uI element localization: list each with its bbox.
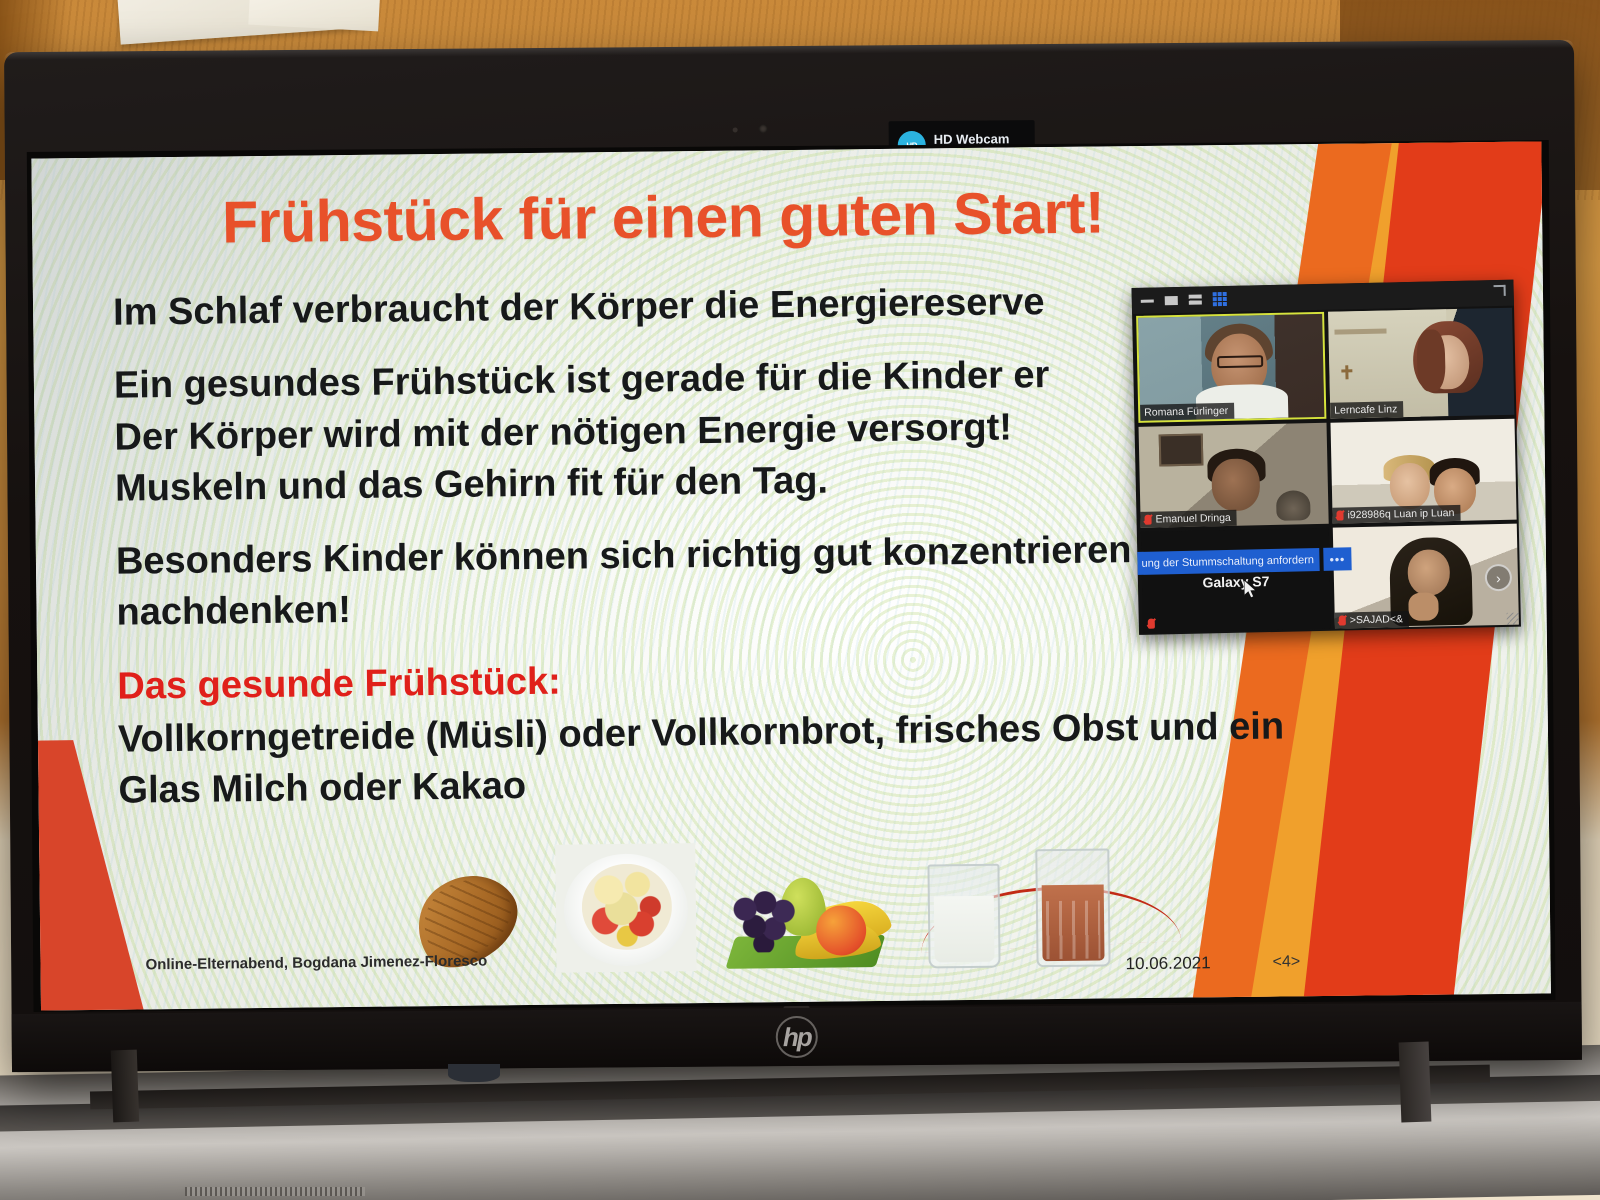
muted-microphone-icon — [1148, 619, 1155, 629]
minimize-icon[interactable] — [1141, 299, 1154, 302]
laptop-hinge-right — [1399, 1042, 1432, 1123]
window-resize-grip[interactable] — [1507, 613, 1519, 625]
fresh-fruit-image — [723, 849, 894, 971]
glass-of-milk-image — [917, 856, 1010, 969]
participant-name: i928986q Luan ip Luan — [1347, 507, 1454, 521]
participant-name-with-mute: Emanuel Dringa — [1140, 510, 1237, 528]
participant-name: >SAJAD<& — [1350, 613, 1403, 626]
slide-title: Frühstück für einen guten Start! — [222, 178, 1105, 256]
participant-tile[interactable]: Emanuel Dringa — [1139, 423, 1329, 528]
photo-scene: HD HD Webcam HD Video Conferencing 470 F… — [0, 0, 1600, 1200]
screen-share-icon[interactable] — [1494, 285, 1506, 296]
laptop-foot — [448, 1064, 500, 1082]
muted-microphone-icon — [1339, 615, 1346, 625]
laptop-vent — [185, 1187, 365, 1196]
participant-name-with-mute: >SAJAD<& — [1335, 611, 1409, 629]
laptop-bottom-bezel: hp — [12, 1002, 1582, 1072]
food-image-row — [397, 826, 1119, 974]
participant-name: Galaxy S7 — [1142, 572, 1330, 592]
participant-tile-no-video[interactable]: Galaxy S7 — [1141, 528, 1331, 633]
participant-tile[interactable]: Romana Fürlinger — [1136, 312, 1326, 423]
participant-tile[interactable]: i928986q Luan ip Luan — [1330, 419, 1516, 524]
slide-paragraph-4: Das gesunde Frühstück: Vollkorngetreide … — [117, 646, 1459, 817]
zoom-meeting-window[interactable]: Romana Fürlinger Lerncafe Linz — [1132, 280, 1521, 635]
glass-of-cocoa-image — [1025, 840, 1118, 967]
split-view-icon[interactable] — [1189, 294, 1202, 304]
unmute-more-options-button[interactable]: ••• — [1323, 547, 1351, 571]
laptop-hinge-left — [111, 1050, 139, 1123]
laptop-lid: HD HD Webcam HD Video Conferencing 470 F… — [4, 40, 1582, 1072]
glasses-icon — [1217, 355, 1263, 368]
hp-logo-icon: hp — [776, 1016, 818, 1058]
webcam-lens-icon — [759, 124, 768, 133]
zoom-participant-grid: Romana Fürlinger Lerncafe Linz — [1132, 306, 1521, 635]
participant-name: Lerncafe Linz — [1330, 401, 1403, 419]
participant-name: Romana Fürlinger — [1140, 403, 1234, 421]
muted-microphone-icon — [1336, 510, 1343, 520]
gallery-view-icon[interactable] — [1213, 292, 1227, 306]
laptop-screen: Frühstück für einen guten Start! Im Schl… — [27, 140, 1556, 1012]
slide-date: 10.06.2021 — [1125, 953, 1210, 974]
fruit-salad-bowl-image — [555, 843, 696, 973]
webcam-led-icon — [733, 127, 738, 132]
muted-microphone-icon — [1144, 515, 1151, 525]
participant-name-with-mute: i928986q Luan ip Luan — [1332, 505, 1460, 524]
participant-tile[interactable]: Lerncafe Linz — [1328, 308, 1514, 419]
participant-name: Emanuel Dringa — [1155, 512, 1231, 526]
unmute-request-banner[interactable]: ung der Stummschaltung anfordern — [1135, 548, 1319, 575]
maximize-icon[interactable] — [1165, 296, 1178, 305]
slide-page-number: <4> — [1272, 953, 1300, 971]
